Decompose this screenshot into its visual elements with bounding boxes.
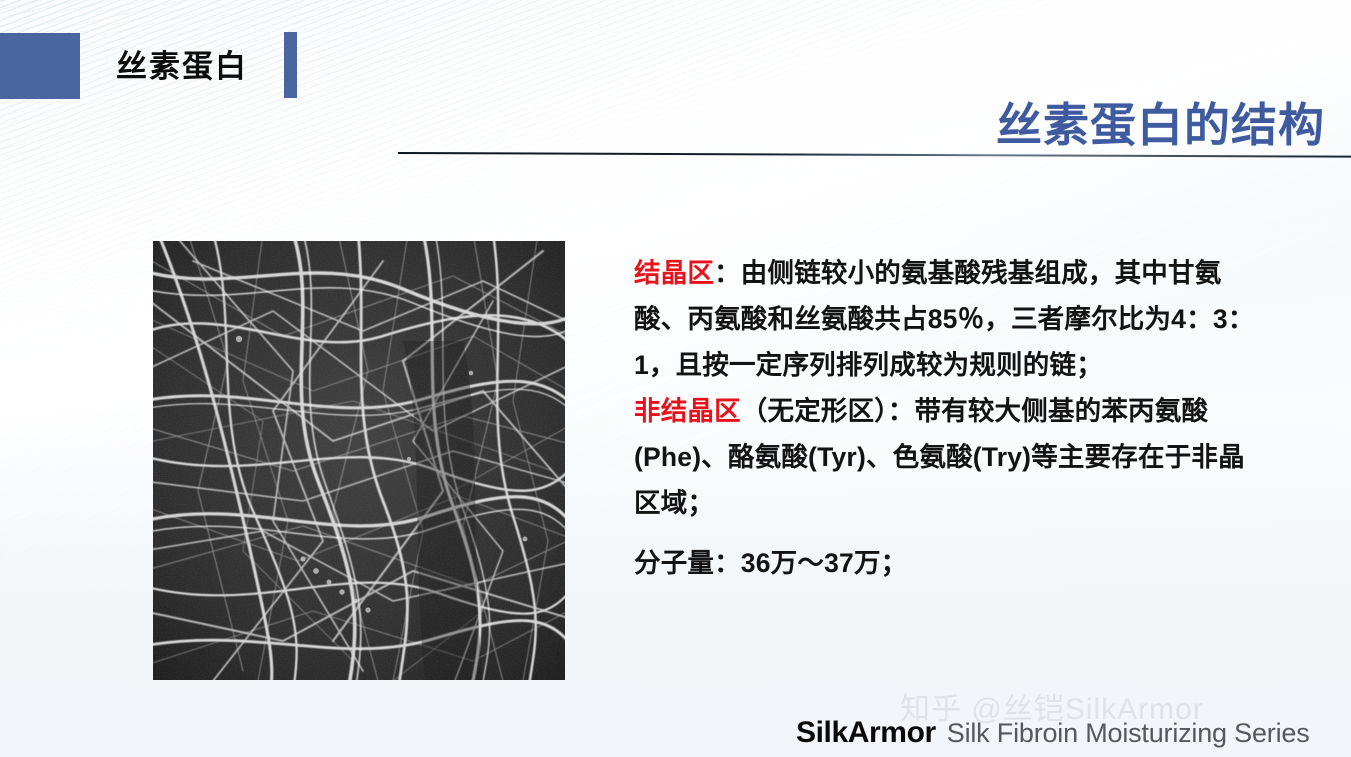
slide-canvas: 丝素蛋白 丝素蛋白的结构 [0, 0, 1351, 757]
header-accent-bar [284, 32, 297, 98]
keyword-crystalline: 结晶区 [634, 258, 714, 288]
fiber-micrograph-image [153, 241, 565, 680]
paragraph-crystalline: 结晶区：由侧链较小的氨基酸残基组成，其中甘氨酸、丙氨酸和丝氨酸共占85％，三者摩… [634, 250, 1262, 388]
page-title: 丝素蛋白的结构 [996, 89, 1325, 155]
brand-name: SilkArmor [796, 716, 936, 750]
keyword-amorphous: 非结晶区 [634, 396, 741, 426]
paragraph-amorphous: 非结晶区（无定形区）：带有较大侧基的苯丙氨酸(Phe)、酪氨酸(Tyr)、色氨酸… [634, 388, 1262, 526]
brand-tagline: Silk Fibroin Moisturizing Series [947, 718, 1310, 749]
body-text-block: 结晶区：由侧链较小的氨基酸残基组成，其中甘氨酸、丙氨酸和丝氨酸共占85％，三者摩… [634, 250, 1262, 586]
molecular-weight-line: 分子量：36万～37万； [634, 540, 1262, 586]
header-label: 丝素蛋白 [116, 41, 248, 86]
brand-lockup: SilkArmor Silk Fibroin Moisturizing Seri… [796, 716, 1310, 750]
header-accent-square [0, 33, 80, 99]
paragraph-crystalline-text: ：由侧链较小的氨基酸残基组成，其中甘氨酸、丙氨酸和丝氨酸共占85％，三者摩尔比为… [634, 258, 1254, 380]
